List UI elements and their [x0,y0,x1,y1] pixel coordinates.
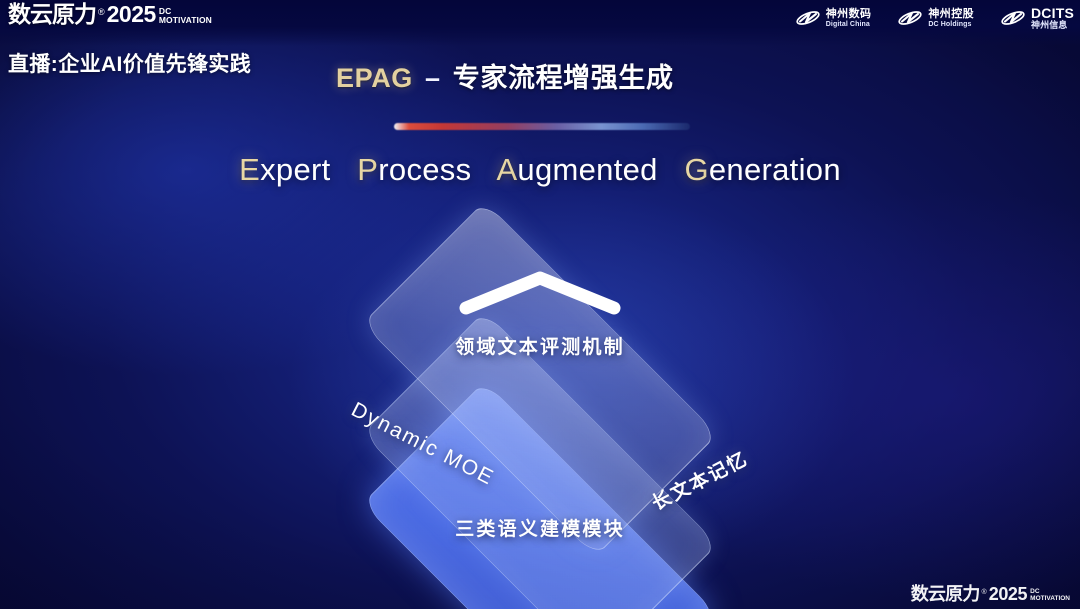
space-1 [339,152,348,187]
brand-motivation-text: MOTIVATION [159,16,212,25]
footer-brand-year: 2025 [989,585,1027,603]
space-3 [667,152,676,187]
logo-dc-holdings-text: 神州控股 DC Holdings [928,9,974,28]
livestream-subtitle: 直播:企业AI价值先锋实践 [8,48,251,78]
cap-a: A [496,152,517,187]
title-separator: – [425,63,441,93]
layer-bottom-label: 三类语义建模模块 [282,514,798,541]
cap-p: P [357,152,378,187]
footer-dc-motivation: DC MOTIVATION [1030,589,1070,602]
word-process: Process [357,152,471,187]
logo-label-en: Digital China [826,21,872,29]
footer-watermark: 数云原力 ® 2025 DC MOTIVATION [911,585,1070,603]
word-augmented: Augmented [496,152,657,187]
layered-architecture-diagram: 领域文本评测机制 Dynamic MOE 长文本记忆 三类语义建模模块 [282,222,798,578]
logo-dcits: DCITS 神州信息 [1000,6,1074,31]
footer-brand-cn: 数云原力 [911,585,980,603]
cap-e: E [239,152,260,187]
header-brand-logo: 数云原力 ® 2025 DC MOTIVATION [8,3,212,26]
slide-title: EPAG – 专家流程增强生成 [336,56,674,95]
rest-augmented: ugmented [517,152,657,187]
brand-year: 2025 [107,3,156,26]
logo-label-en: DC Holdings [928,21,974,29]
logo-label-cn: 神州信息 [1031,21,1074,31]
logo-dc-holdings: 神州控股 DC Holdings [897,8,974,28]
title-chinese: 专家流程增强生成 [453,63,674,93]
rest-generation: eneration [709,152,841,187]
title-english-expansion: Expert Process Augmented Generation [0,152,1080,188]
accent-gradient-bar [394,123,690,130]
brand-registered-mark: ® [98,8,105,17]
swirl-logo-icon [795,8,821,28]
logo-label-cn: 神州数码 [826,9,872,21]
partner-logos: 神州数码 Digital China 神州控股 DC Holdings DCIT… [795,6,1074,31]
logo-dcits-text: DCITS 神州信息 [1031,6,1074,31]
swirl-logo-icon [897,8,923,28]
logo-label-en: DCITS [1031,6,1074,21]
rest-expert: xpert [260,152,330,187]
layer-top-label: 领域文本评测机制 [282,332,798,359]
chevron-up-icon [452,266,628,318]
rest-process: rocess [378,152,471,187]
logo-label-cn: 神州控股 [928,9,974,21]
word-expert: Expert [239,152,330,187]
logo-digital-china: 神州数码 Digital China [795,8,872,28]
swirl-logo-icon [1000,8,1026,28]
cap-g: G [684,152,708,187]
footer-motivation-text: MOTIVATION [1030,596,1070,603]
footer-registered-mark: ® [982,589,987,596]
space-2 [480,152,489,187]
brand-dc-motivation: DC MOTIVATION [159,7,212,24]
word-generation: Generation [684,152,840,187]
title-acronym: EPAG [336,63,413,93]
brand-name-cn: 数云原力 [8,3,96,26]
logo-digital-china-text: 神州数码 Digital China [826,9,872,28]
